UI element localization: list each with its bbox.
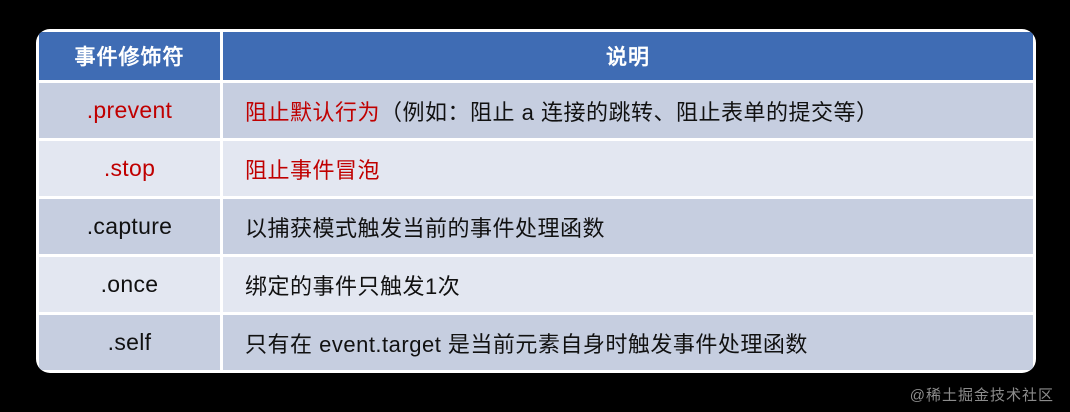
cell-description-capture: 以捕获模式触发当前的事件处理函数 bbox=[223, 199, 1033, 254]
description-rest: 只有在 event.target 是当前元素自身时触发事件处理函数 bbox=[245, 332, 808, 357]
modifier-name: .capture bbox=[87, 213, 173, 239]
table-row: .once 绑定的事件只触发1次 bbox=[39, 257, 1033, 312]
table-row: .stop 阻止事件冒泡 bbox=[39, 141, 1033, 196]
cell-modifier-prevent: .prevent bbox=[39, 83, 220, 138]
screenshot-stage: 事件修饰符 说明 .prevent 阻止默认行为（例如：阻止 a 连接的跳转、阻… bbox=[0, 0, 1070, 412]
description-rest: （例如：阻止 a 连接的跳转、阻止表单的提交等） bbox=[380, 100, 878, 125]
description-highlight: 阻止事件冒泡 bbox=[245, 158, 380, 183]
cell-description-self: 只有在 event.target 是当前元素自身时触发事件处理函数 bbox=[223, 315, 1033, 370]
modifier-name: .stop bbox=[104, 155, 155, 181]
description-highlight: 阻止默认行为 bbox=[245, 100, 380, 125]
cell-modifier-self: .self bbox=[39, 315, 220, 370]
cell-description-once: 绑定的事件只触发1次 bbox=[223, 257, 1033, 312]
table-body: .prevent 阻止默认行为（例如：阻止 a 连接的跳转、阻止表单的提交等） … bbox=[39, 83, 1033, 370]
modifier-name: .once bbox=[101, 271, 159, 297]
cell-modifier-capture: .capture bbox=[39, 199, 220, 254]
modifier-name: .prevent bbox=[87, 97, 173, 123]
description-rest: 以捕获模式触发当前的事件处理函数 bbox=[245, 216, 605, 241]
watermark-label: @稀土掘金技术社区 bbox=[910, 384, 1054, 405]
description-rest: 绑定的事件只触发1次 bbox=[245, 274, 460, 299]
table-row: .capture 以捕获模式触发当前的事件处理函数 bbox=[39, 199, 1033, 254]
modifier-name: .self bbox=[108, 329, 152, 355]
column-header-modifier: 事件修饰符 bbox=[39, 32, 220, 80]
table-row: .self 只有在 event.target 是当前元素自身时触发事件处理函数 bbox=[39, 315, 1033, 370]
event-modifier-table-container: 事件修饰符 说明 .prevent 阻止默认行为（例如：阻止 a 连接的跳转、阻… bbox=[36, 29, 1036, 373]
cell-description-stop: 阻止事件冒泡 bbox=[223, 141, 1033, 196]
cell-modifier-once: .once bbox=[39, 257, 220, 312]
cell-description-prevent: 阻止默认行为（例如：阻止 a 连接的跳转、阻止表单的提交等） bbox=[223, 83, 1033, 138]
column-header-description: 说明 bbox=[223, 32, 1033, 80]
event-modifier-table: 事件修饰符 说明 .prevent 阻止默认行为（例如：阻止 a 连接的跳转、阻… bbox=[36, 29, 1036, 373]
table-row: .prevent 阻止默认行为（例如：阻止 a 连接的跳转、阻止表单的提交等） bbox=[39, 83, 1033, 138]
table-header: 事件修饰符 说明 bbox=[39, 32, 1033, 80]
table-header-row: 事件修饰符 说明 bbox=[39, 32, 1033, 80]
cell-modifier-stop: .stop bbox=[39, 141, 220, 196]
